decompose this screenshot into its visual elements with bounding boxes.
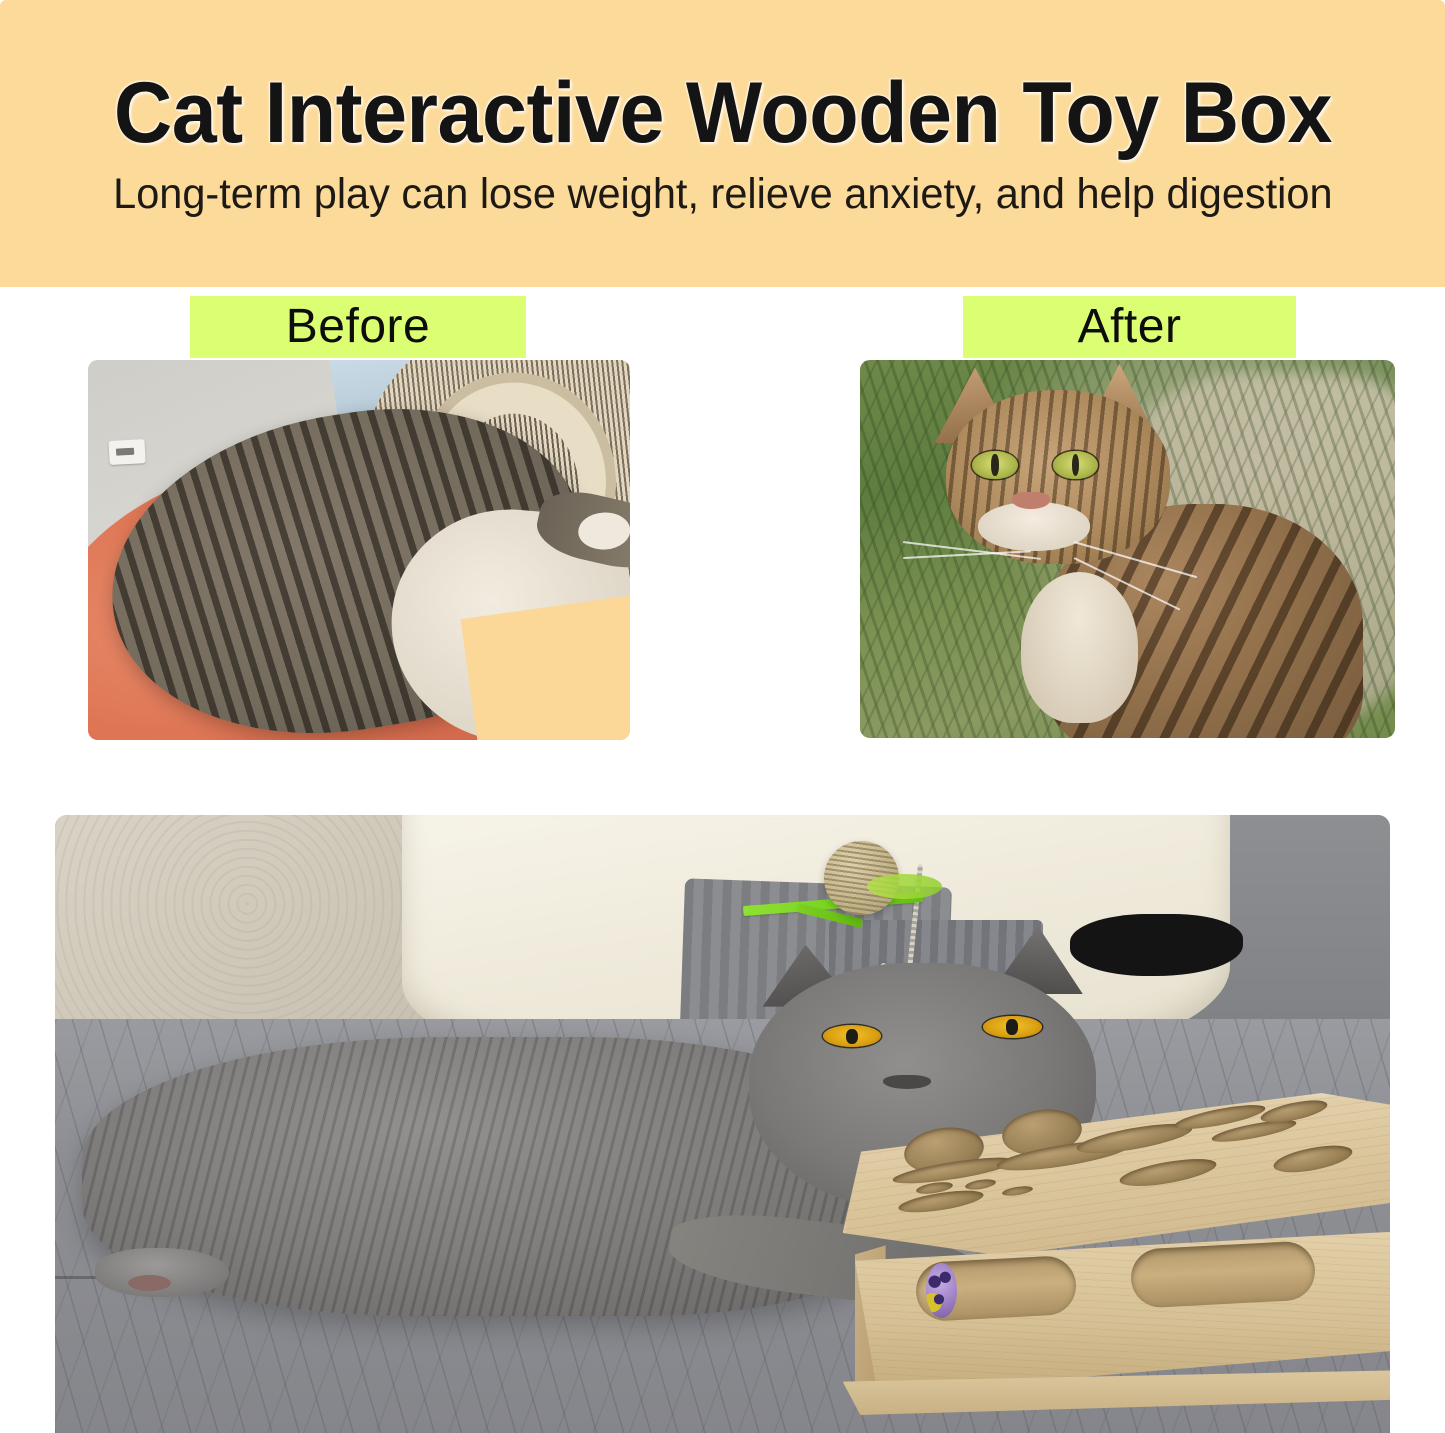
infographic-page: Cat Interactive Wooden Toy Box Long-term… <box>0 0 1445 1433</box>
cat-eye-left <box>972 451 1017 479</box>
after-label: After <box>963 296 1296 358</box>
before-scene <box>88 360 630 740</box>
before-photo <box>88 360 630 740</box>
wooden-toy-box <box>843 1093 1390 1433</box>
page-subtitle: Long-term play can lose weight, relieve … <box>113 172 1332 217</box>
before-photo-corner-tint-br <box>460 594 630 740</box>
cat-chest-fur <box>1021 572 1139 723</box>
sisal-rope-ball <box>824 841 899 915</box>
toy-box-side-opening <box>1130 1241 1317 1309</box>
black-cloth <box>1070 914 1244 976</box>
header-banner: Cat Interactive Wooden Toy Box Long-term… <box>0 0 1445 287</box>
grey-cat-paw <box>95 1248 229 1297</box>
after-scene <box>860 360 1395 738</box>
before-label: Before <box>190 296 526 358</box>
label-tag <box>108 439 145 465</box>
sisal-ball-green-band <box>867 874 942 899</box>
purple-toy-ball <box>926 1263 958 1318</box>
grey-cat-eye-right <box>983 1016 1042 1038</box>
main-product-photo <box>55 815 1390 1433</box>
cat-eye-right <box>1053 451 1098 479</box>
after-photo <box>860 360 1395 738</box>
page-title: Cat Interactive Wooden Toy Box <box>113 70 1331 156</box>
cat-muzzle <box>978 502 1090 551</box>
main-scene <box>55 815 1390 1433</box>
